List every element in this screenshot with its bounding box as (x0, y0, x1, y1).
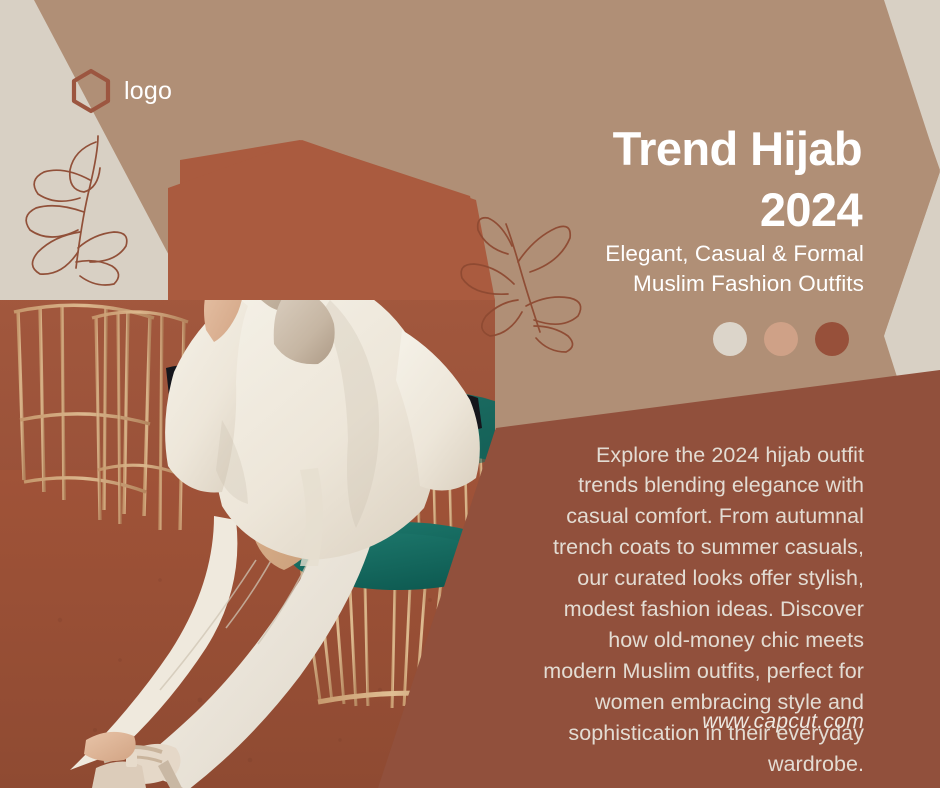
website-url[interactable]: www.capcut.com (534, 710, 864, 734)
swatch-cream[interactable] (713, 322, 747, 356)
hexagon-outline-icon (70, 68, 112, 114)
title-line-1: Trend Hijab (613, 122, 862, 175)
logo[interactable]: logo (70, 68, 172, 114)
subtitle: Elegant, Casual & Formal Muslim Fashion … (384, 239, 864, 299)
subtitle-line-1: Elegant, Casual & Formal (384, 239, 864, 269)
subtitle-line-2: Muslim Fashion Outfits (384, 269, 864, 299)
page-title: Trend Hijab 2024 (342, 119, 862, 239)
title-line-2: 2024 (342, 180, 862, 240)
swatch-peach[interactable] (764, 322, 798, 356)
logo-text: logo (124, 79, 172, 104)
leaf-sprig-icon (26, 136, 127, 285)
color-swatch-group (713, 322, 849, 356)
swatch-rust[interactable] (815, 322, 849, 356)
poster-canvas: logo Trend Hijab 2024 Elegant, Casual & … (0, 0, 940, 788)
